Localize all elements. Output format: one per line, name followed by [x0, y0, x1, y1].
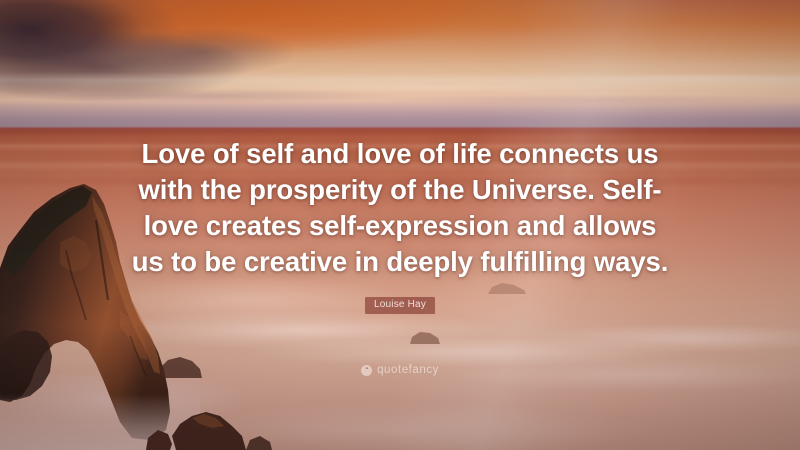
- author-name-chip[interactable]: Louise Hay: [365, 297, 435, 314]
- watermark-brand-text: quotefancy: [377, 364, 439, 376]
- author-attribution: Louise Hay: [0, 294, 800, 314]
- watermark[interactable]: “ quotefancy: [0, 364, 800, 376]
- quotefancy-logo-glyph: “: [365, 367, 368, 374]
- quote-poster: Love of self and love of life connects u…: [0, 0, 800, 450]
- quotefancy-logo-icon: “: [361, 365, 372, 376]
- quote-text: Love of self and love of life connects u…: [60, 136, 740, 280]
